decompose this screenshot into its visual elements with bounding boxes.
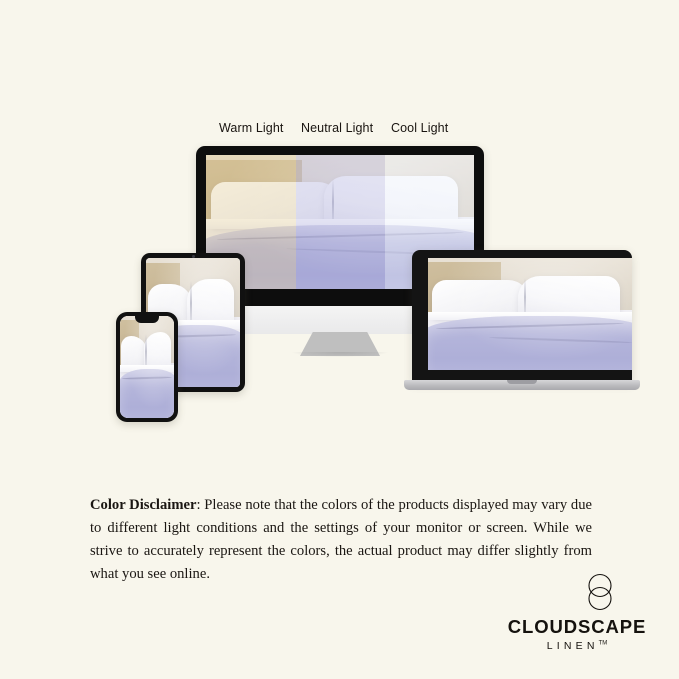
band-neutral-light xyxy=(296,155,385,289)
label-cool-light: Cool Light xyxy=(391,121,448,135)
bed-photo-laptop xyxy=(428,258,632,370)
monitor-shadow xyxy=(292,352,388,357)
two-overlapping-circles-icon xyxy=(585,572,615,612)
phone-screen xyxy=(120,316,174,418)
smartphone xyxy=(116,312,178,422)
phone-bezel xyxy=(116,312,178,422)
label-neutral-light: Neutral Light xyxy=(301,121,373,135)
laptop-screen xyxy=(428,258,632,370)
disclaimer-heading: Color Disclaimer xyxy=(90,497,196,513)
photo-highlight xyxy=(428,258,632,370)
photo-highlight xyxy=(120,316,174,418)
laptop xyxy=(404,250,640,392)
phone-notch xyxy=(135,316,159,323)
light-condition-labels: Warm Light Neutral Light Cool Light xyxy=(0,121,679,139)
brand-subtitle: LINENTM xyxy=(497,640,657,652)
promo-graphic: Warm Light Neutral Light Cool Light xyxy=(0,0,679,679)
laptop-base-notch xyxy=(507,380,537,384)
laptop-lid xyxy=(412,250,632,382)
label-warm-light: Warm Light xyxy=(219,121,283,135)
brand-subtitle-text: LINEN xyxy=(547,640,599,652)
brand-name: CLOUDSCAPE xyxy=(497,616,657,638)
brand-logo: CLOUDSCAPE LINENTM xyxy=(497,572,657,648)
trademark-symbol: TM xyxy=(599,641,608,647)
bed-photo-phone xyxy=(120,316,174,418)
